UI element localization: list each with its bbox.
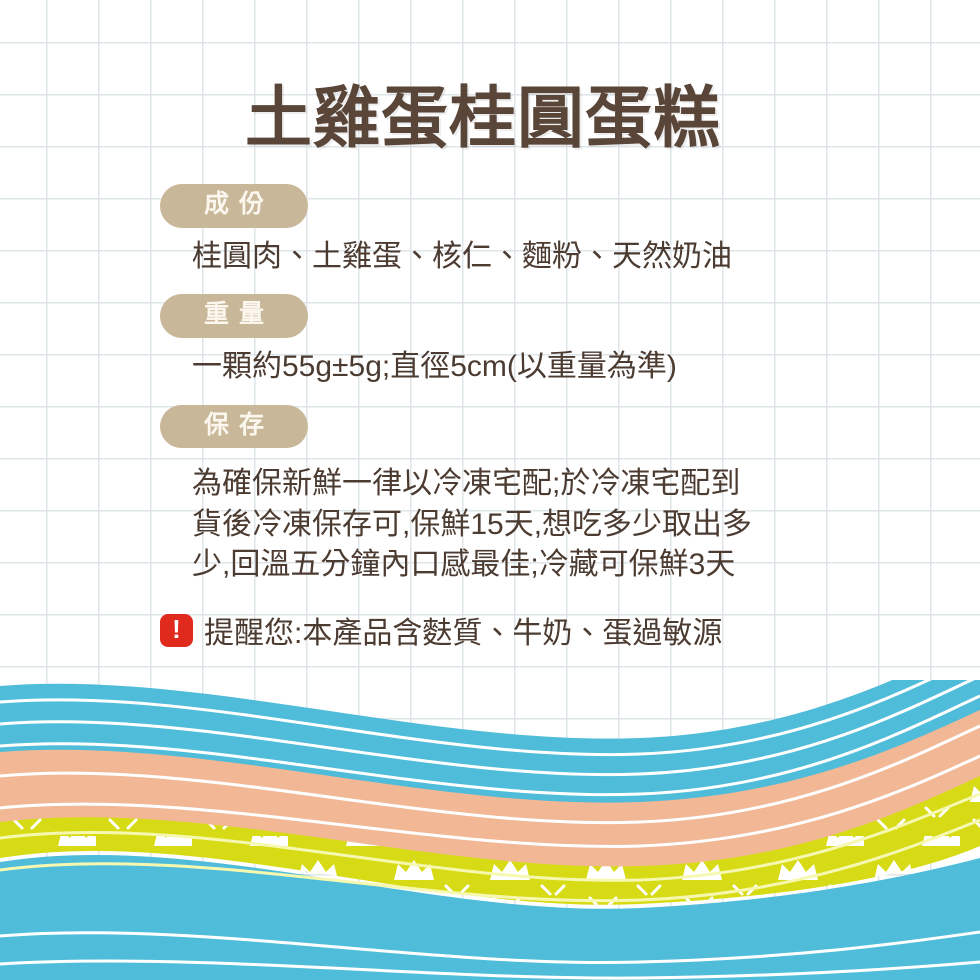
exclamation-glyph: ! xyxy=(172,616,181,642)
section-weight: 重量 一顆約55g±5g;直徑5cm(以重量為準) xyxy=(0,294,980,386)
section-label-weight: 重量 xyxy=(160,294,308,337)
card-content: 土雞蛋桂圓蛋糕 成份 桂圓肉、土雞蛋、核仁、麵粉、天然奶油 重量 一顆約55g±… xyxy=(0,0,980,652)
section-body-weight: 一顆約55g±5g;直徑5cm(以重量為準) xyxy=(0,347,980,387)
wave-banner-decoration xyxy=(0,680,980,980)
text-line: 少,回溫五分鐘內口感最佳;冷藏可保鮮3天 xyxy=(192,545,860,586)
allergen-notice-text: 提醒您:本產品含麩質、牛奶、蛋過敏源 xyxy=(204,608,722,652)
section-ingredients: 成份 桂圓肉、土雞蛋、核仁、麵粉、天然奶油 xyxy=(0,184,980,276)
allergen-notice: ! 提醒您:本產品含麩質、牛奶、蛋過敏源 xyxy=(0,608,980,652)
text-line: 桂圓肉、土雞蛋、核仁、麵粉、天然奶油 xyxy=(192,237,860,277)
exclamation-icon: ! xyxy=(160,614,193,647)
section-storage: 保存 為確保新鮮一律以冷凍宅配;於冷凍宅配到 貨後冷凍保存可,保鮮15天,想吃多… xyxy=(0,405,980,587)
text-line: 貨後冷凍保存可,保鮮15天,想吃多少取出多 xyxy=(192,505,860,546)
product-info-card: 土雞蛋桂圓蛋糕 成份 桂圓肉、土雞蛋、核仁、麵粉、天然奶油 重量 一顆約55g±… xyxy=(0,0,980,980)
section-body-ingredients: 桂圓肉、土雞蛋、核仁、麵粉、天然奶油 xyxy=(0,237,980,277)
section-label-storage: 保存 xyxy=(160,405,308,448)
section-label-ingredients: 成份 xyxy=(160,184,308,227)
page-title: 土雞蛋桂圓蛋糕 xyxy=(0,84,980,154)
text-line: 為確保新鮮一律以冷凍宅配;於冷凍宅配到 xyxy=(192,464,860,505)
section-body-storage: 為確保新鮮一律以冷凍宅配;於冷凍宅配到 貨後冷凍保存可,保鮮15天,想吃多少取出… xyxy=(0,464,980,586)
text-line: 一顆約55g±5g;直徑5cm(以重量為準) xyxy=(192,347,860,387)
